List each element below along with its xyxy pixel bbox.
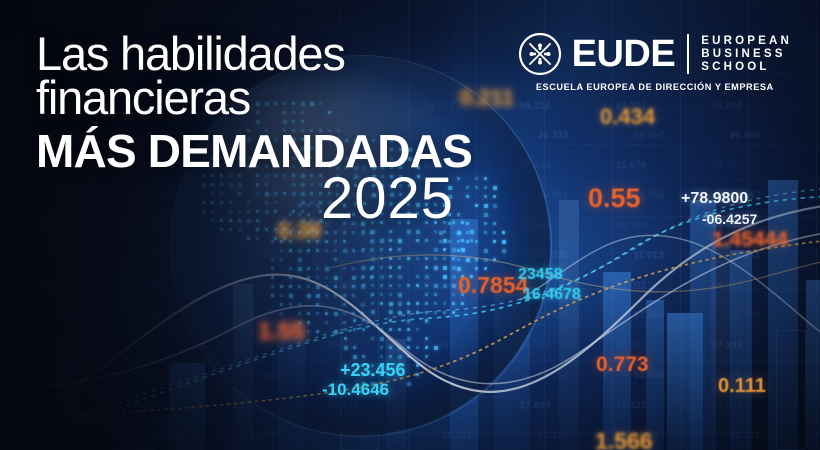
overlay-number: -10.4646 <box>322 380 389 400</box>
logo-descriptor: EUROPEAN BUSINESS SCHOOL <box>701 35 792 73</box>
overlay-number: 1.566 <box>595 428 653 450</box>
headline-line-2: financieras <box>36 76 506 120</box>
logo-descriptor-line-3: SCHOOL <box>701 61 792 73</box>
eude-logo[interactable]: EUDE EUROPEAN BUSINESS SCHOOL ESCUELA EU… <box>518 32 792 92</box>
headline-block: Las habilidades financieras MÁS DEMANDAD… <box>36 32 506 228</box>
headline-line-1: Las habilidades <box>36 32 506 76</box>
overlay-number: +23.456 <box>340 360 406 381</box>
logo-wordmark: EUDE <box>572 35 676 73</box>
overlay-number: -06.4257 <box>702 211 757 227</box>
logo-descriptor-line-2: BUSINESS <box>701 48 792 60</box>
eude-promo-banner: 78.66477.53156.78022.33351.00266.31263.2… <box>0 0 820 450</box>
logo-descriptor-line-1: EUROPEAN <box>701 35 792 47</box>
overlay-number: +78.9800 <box>681 190 748 208</box>
overlay-number: 16.4678 <box>523 286 581 304</box>
logo-divider <box>687 34 689 74</box>
logo-main-row: EUDE EUROPEAN BUSINESS SCHOOL <box>518 32 792 76</box>
headline-year: 2025 <box>36 170 506 228</box>
logo-tagline: ESCUELA EUROPEA DE DIRECCIÓN Y EMPRESA <box>536 82 774 92</box>
overlay-number: 23458 <box>518 266 563 284</box>
overlay-number: 0.773 <box>596 353 649 377</box>
overlay-number: 0.434 <box>600 104 655 130</box>
overlay-number: 0.55 <box>588 183 641 214</box>
overlay-number: 0.111 <box>718 375 766 398</box>
eude-cross-emblem-icon <box>518 32 562 76</box>
overlay-number: 1.45444 <box>712 228 788 252</box>
overlay-number: 1.55 <box>258 318 305 346</box>
